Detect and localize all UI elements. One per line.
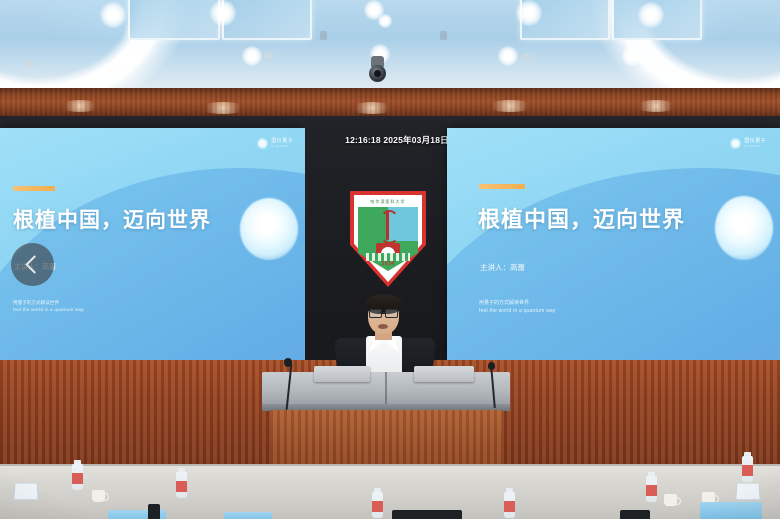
table-item [224, 512, 272, 519]
water-bottle [504, 488, 515, 518]
logo-secondary-text: CIQTEK [271, 145, 293, 148]
slide-presenter: 主讲人：高蕾 [480, 262, 525, 273]
crest-year: 1934 [350, 261, 426, 267]
name-card [735, 483, 760, 501]
laptop-device [414, 366, 474, 382]
slide-logo: 国仪量子 CIQTEK [730, 138, 766, 149]
slide-tagline-cn: 用量子的方式解读世界 [13, 300, 84, 307]
logo-mark-icon [730, 138, 741, 149]
table-item [148, 504, 160, 519]
projection-screen-right: 国仪量子 CIQTEK 根植中国，迈向世界 主讲人：高蕾 用量子的方式解读世界 … [447, 128, 780, 360]
ceiling-downlight [638, 2, 664, 28]
player-back-button[interactable] [11, 243, 54, 286]
ceiling-downlight [100, 2, 126, 28]
chevron-left-icon [25, 255, 43, 273]
slide-glow-orb [715, 196, 773, 260]
projection-screen-left: 国仪量子 CIQTEK 根植中国，迈向世界 主讲人：高蕾 用量子的方式解读世界 … [0, 128, 305, 360]
slide-tagline-en: feel the world in a quantum way [13, 307, 84, 314]
slide-accent-bar [479, 184, 525, 189]
slide-tagline: 用量子的方式解读世界 feel the world in a quantum w… [479, 300, 556, 315]
ceiling-panel [128, 0, 220, 40]
water-bottle [72, 460, 83, 490]
table-item [700, 502, 762, 519]
slide-tagline: 用量子的方式解读世界 feel the world in a quantum w… [13, 300, 84, 314]
ceiling-speaker [522, 54, 531, 61]
rod-icon [386, 210, 389, 240]
university-crest: 哈尔滨医科大学 1934 [350, 191, 426, 287]
serpent-icon [380, 210, 399, 244]
ceiling-downlight [118, 48, 138, 68]
water-bottle [742, 452, 753, 482]
gooseneck-microphone [486, 362, 500, 408]
water-bottle [646, 472, 657, 502]
ceiling-downlight [516, 0, 542, 26]
coffee-mug [664, 494, 677, 506]
water-bottle [176, 468, 187, 498]
slide-glow-orb [240, 198, 298, 260]
laptop-device [314, 366, 370, 382]
logo-mark-icon [257, 138, 268, 149]
slide-accent-bar [13, 186, 55, 191]
ceiling-speaker [24, 60, 33, 67]
timestamp-overlay: 12:16:18 2025年03月18日 [332, 134, 462, 146]
foreground-table [0, 466, 780, 519]
ceiling [0, 0, 780, 96]
table-item [392, 510, 462, 519]
ceiling-downlight [498, 46, 518, 66]
slide-tagline-cn: 用量子的方式解读世界 [479, 300, 556, 308]
crest-top-text: 哈尔滨医科大学 [350, 199, 426, 205]
waves-icon [366, 253, 410, 261]
slide-title: 根植中国，迈向世界 [13, 204, 211, 234]
ceiling-downlight [210, 0, 236, 26]
sprinkler-head [320, 31, 327, 40]
ceiling-panel [222, 0, 312, 40]
ceiling-speaker [264, 52, 273, 59]
sprinkler-head [440, 31, 447, 40]
coffee-mug [92, 490, 105, 502]
lecture-hall-scene: 国仪量子 CIQTEK 根植中国，迈向世界 主讲人：高蕾 用量子的方式解读世界 … [0, 0, 780, 519]
glasses-icon [369, 309, 398, 316]
logo-secondary-text: CIQTEK [744, 145, 766, 148]
slide-title: 根植中国，迈向世界 [478, 202, 685, 234]
slide-tagline-en: feel the world in a quantum way [479, 308, 556, 316]
water-bottle [372, 488, 383, 518]
ceiling-downlight [242, 46, 262, 66]
table-item [620, 510, 650, 519]
upper-wood-trim [0, 88, 780, 118]
slide-logo: 国仪量子 CIQTEK [257, 138, 293, 149]
gooseneck-microphone [281, 358, 299, 410]
name-card [13, 483, 38, 501]
ceiling-downlight [378, 14, 392, 28]
dome-camera-icon [369, 56, 386, 82]
ceiling-downlight [622, 46, 642, 66]
